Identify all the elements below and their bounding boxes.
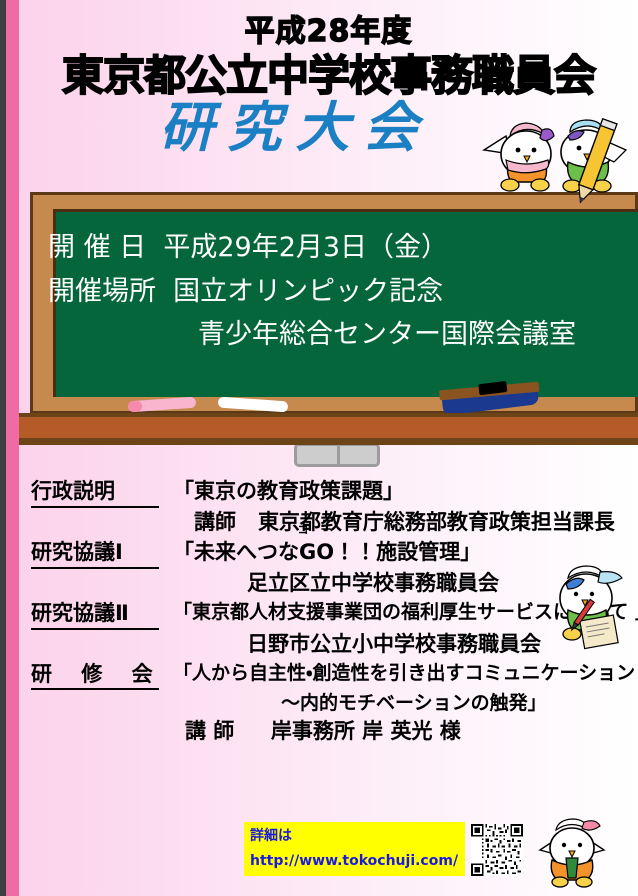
program-item-kenshukai: 研 修 会 「人から自主性・創造性を引き出すコミュニケーション 〜内的モチベーシ… <box>19 661 638 746</box>
two-birds-icon <box>480 106 630 206</box>
program-title-line2: 〜内的モチベーションの触発」 <box>19 690 638 716</box>
board-venue-label: 開催場所 <box>48 276 156 307</box>
program-item-head: 研 修 会 「人から自主性・創造性を引き出すコミュニケーション <box>19 661 638 691</box>
qr-code-icon <box>471 824 523 876</box>
bird-orange-icon <box>536 816 608 890</box>
presenter-name: 足立区立中学校事務職員会 <box>247 571 499 595</box>
board-date-value: 平成29年2月3日（金） <box>163 232 448 263</box>
poster-root: 平成28年度 東京都公立中学校事務職員会 研究大会 <box>0 0 638 896</box>
footer-bird-mascot <box>536 816 608 890</box>
board-date-line: 開 催 日 平成29年2月3日（金） <box>48 226 628 270</box>
program-label: 研究協議Ⅱ <box>31 600 159 630</box>
program-label: 研 修 会 <box>31 661 159 691</box>
footer-text-block: 詳細は http://www.tokochuji.com/ <box>250 824 480 873</box>
title-post: ！！施設管理」 <box>334 540 481 564</box>
program-item-head: 行政説明 「東京の教育政策課題」 <box>19 478 638 508</box>
program-label: 研究協議Ⅰ <box>31 539 159 569</box>
program-presenter-line: 講 師 岸事務所 岸 英光 様 <box>19 717 638 746</box>
bird-writing-icon <box>542 556 634 650</box>
chalk-ledge <box>10 413 638 445</box>
year-line: 平成28年度 <box>19 16 638 48</box>
title-pre: 「未来へつな <box>173 540 299 564</box>
duster-icon <box>294 443 380 467</box>
footer-detail-label: 詳細は <box>250 824 480 849</box>
presenter-prefix: 講師 <box>194 510 236 534</box>
ruby-base: GO <box>299 540 334 564</box>
presenter-name: 日野市公立小中学校事務職員会 <box>247 632 541 656</box>
writing-bird-mascot <box>542 556 634 650</box>
ruby-go: ゴ ーGO <box>299 539 334 566</box>
qr-code[interactable] <box>471 824 523 876</box>
footer-url-link[interactable]: http://www.tokochuji.com/ <box>250 849 480 874</box>
program-label: 行政説明 <box>31 478 159 508</box>
organization-title: 東京都公立中学校事務職員会 <box>19 53 638 99</box>
board-venue-line2: 青少年総合センター国際会議室 <box>198 319 576 350</box>
presenter-name: 岸事務所 岸 英光 様 <box>271 719 461 743</box>
header-mascots <box>480 106 630 206</box>
left-pink-stripe <box>6 0 19 896</box>
board-date-label: 開 催 日 <box>48 232 146 263</box>
presenter-prefix: 講 師 <box>185 719 234 743</box>
board-venue-line2-wrap: 青少年総合センター国際会議室 <box>48 313 628 357</box>
program-title: 「東京の教育政策課題」 <box>173 478 638 505</box>
blackboard-text: 開 催 日 平成29年2月3日（金） 開催場所 国立オリンピック記念 青少年総合… <box>48 226 628 357</box>
board-venue-line1: 国立オリンピック記念 <box>173 276 443 307</box>
ruby-reading: ゴ ー <box>298 524 336 535</box>
program-title-line1: 「人から自主性・創造性を引き出すコミュニケーション <box>173 661 638 686</box>
board-venue-line: 開催場所 国立オリンピック記念 <box>48 270 628 314</box>
